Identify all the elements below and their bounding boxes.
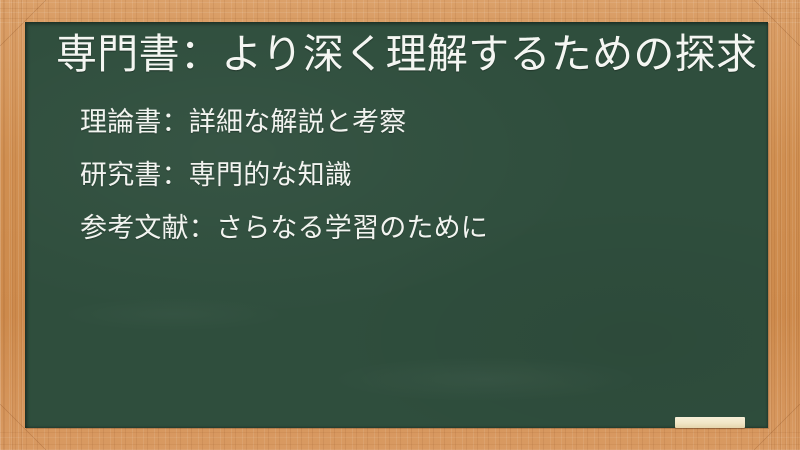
bullet-item-2: 研究書：専門的な知識 <box>80 159 740 193</box>
bullet-item-3: 参考文献：さらなる学習のために <box>80 212 740 246</box>
bullet-item-1: 理論書：詳細な解説と考察 <box>80 106 740 140</box>
slide-bullet-list: 理論書：詳細な解説と考察 研究書：専門的な知識 参考文献：さらなる学習のために <box>80 106 740 245</box>
frame-rail-right <box>768 0 800 450</box>
frame-rail-bottom <box>0 428 800 450</box>
chalk-eraser <box>675 417 745 428</box>
frame-rail-left <box>0 0 26 450</box>
chalkboard-surface: 専門書：より深く理解するための探求 理論書：詳細な解説と考察 研究書：専門的な知… <box>25 22 768 428</box>
frame-rail-top <box>0 0 800 23</box>
slide-title: 専門書：より深く理解するための探求 <box>56 30 756 78</box>
chalkboard-slide: 専門書：より深く理解するための探求 理論書：詳細な解説と考察 研究書：専門的な知… <box>0 0 800 450</box>
